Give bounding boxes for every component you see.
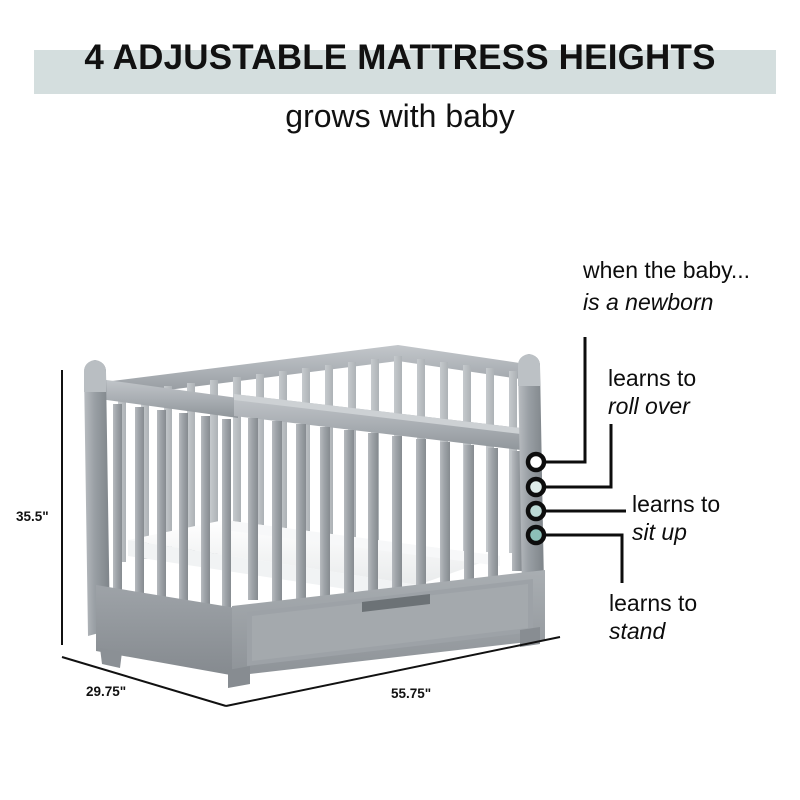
infographic-canvas: 4 ADJUSTABLE MATTRESS HEIGHTS grows with… [0,0,800,800]
annotation-stand-prefix: learns to [609,590,697,616]
annotation-newborn: when the baby... is a newborn [583,258,750,315]
annotation-roll-over-prefix: learns to [608,365,696,391]
marker-roll-over[interactable] [528,479,544,495]
annotation-sit-up: learns to sit up [632,492,720,545]
annotation-stand: learns to stand [609,591,697,644]
dimension-label-depth: 29.75" [86,684,126,699]
dimension-label-width: 55.75" [391,686,431,701]
leader-line-roll-over [545,424,611,487]
annotation-stand-label: stand [609,619,697,644]
marker-sit-up[interactable] [528,503,544,519]
annotation-sit-up-label: sit up [632,520,720,545]
marker-newborn[interactable] [528,454,544,470]
leader-line-stand [545,535,622,583]
dimension-label-height: 35.5" [16,509,49,524]
leader-line-newborn [545,337,585,462]
annotation-newborn-label: is a newborn [583,290,750,315]
annotation-roll-over: learns to roll over [608,366,696,419]
annotation-sit-up-prefix: learns to [632,491,720,517]
annotation-roll-over-label: roll over [608,394,696,419]
marker-stand[interactable] [528,527,544,543]
annotation-intro-label: when the baby... [583,257,750,283]
